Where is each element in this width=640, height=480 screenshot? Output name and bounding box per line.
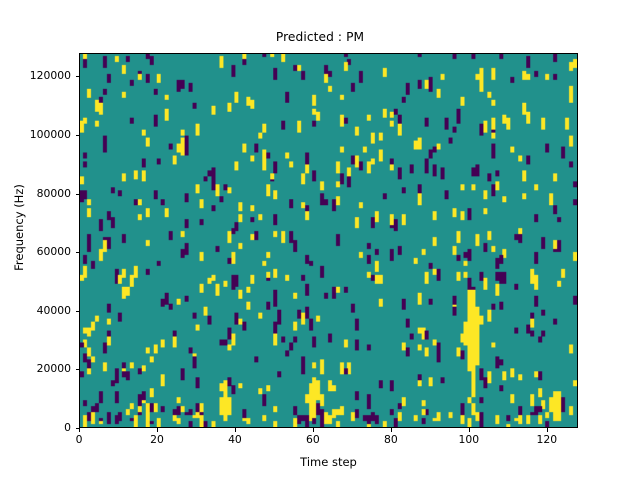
x-tick-label: 20 (127, 433, 187, 446)
x-tick-mark (79, 428, 80, 432)
y-tick-mark (76, 252, 80, 253)
x-tick-mark (313, 428, 314, 432)
y-tick-mark (76, 428, 80, 429)
y-tick-label: 20000 (0, 362, 71, 375)
x-tick-mark (391, 428, 392, 432)
x-tick-mark (157, 428, 158, 432)
x-tick-label: 40 (205, 433, 265, 446)
x-tick-mark (547, 428, 548, 432)
y-tick-label: 120000 (0, 69, 71, 82)
heatmap-axes (79, 53, 578, 428)
x-tick-label: 60 (283, 433, 343, 446)
y-tick-mark (76, 194, 80, 195)
x-tick-label: 120 (517, 433, 577, 446)
x-tick-label: 0 (49, 433, 109, 446)
y-tick-mark (76, 76, 80, 77)
y-tick-label: 0 (0, 421, 71, 434)
heatmap-canvas (80, 54, 577, 427)
y-axis-label: Frequency (Hz) (12, 40, 26, 415)
page-title: Predicted : PM (0, 30, 640, 44)
matplotlib-figure: Predicted : PM Time step Frequency (Hz) … (0, 0, 640, 480)
x-tick-label: 100 (439, 433, 499, 446)
x-tick-mark (469, 428, 470, 432)
y-tick-label: 100000 (0, 128, 71, 141)
y-tick-mark (76, 311, 80, 312)
x-tick-label: 80 (361, 433, 421, 446)
y-tick-label: 80000 (0, 187, 71, 200)
x-tick-mark (235, 428, 236, 432)
y-tick-label: 40000 (0, 304, 71, 317)
x-axis-label: Time step (79, 455, 578, 469)
y-tick-label: 60000 (0, 245, 71, 258)
y-tick-mark (76, 369, 80, 370)
y-tick-mark (76, 135, 80, 136)
